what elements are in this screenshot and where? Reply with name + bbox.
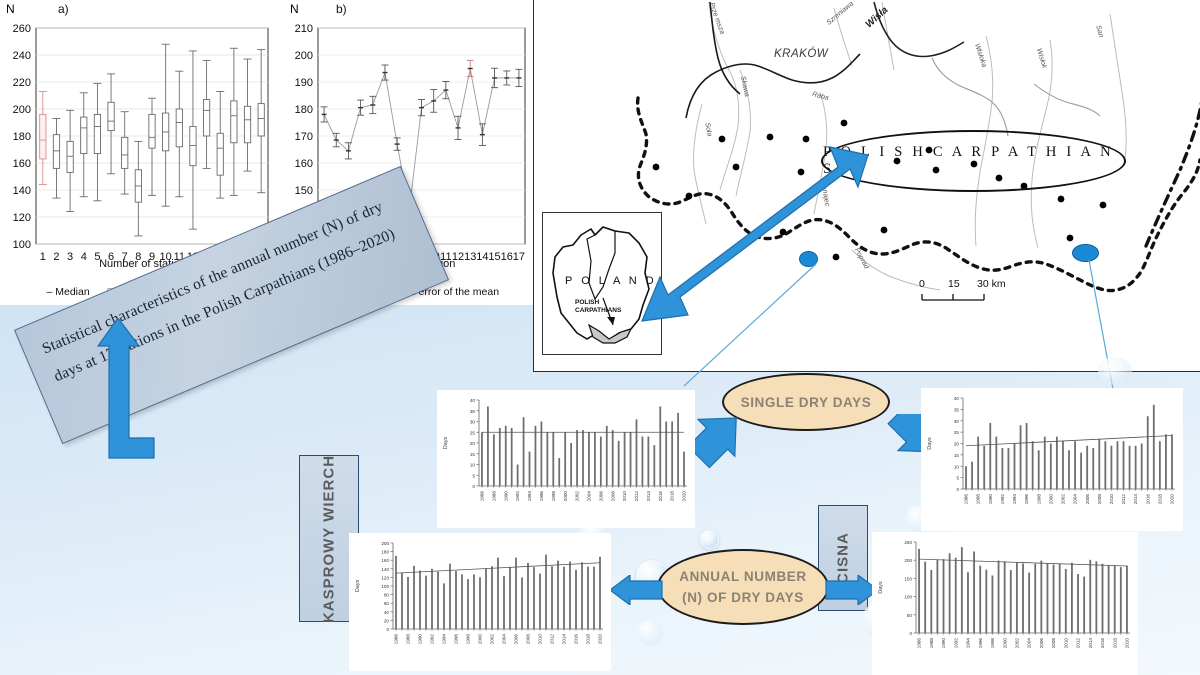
svg-text:2018: 2018: [586, 634, 591, 645]
svg-text:1986: 1986: [480, 491, 485, 502]
svg-text:2000: 2000: [1002, 638, 1007, 649]
svg-text:2016: 2016: [658, 491, 663, 502]
arrow-single-to-kasprowy: [686, 414, 748, 470]
svg-text:2016: 2016: [1145, 494, 1150, 505]
svg-text:140: 140: [13, 185, 31, 197]
svg-text:2012: 2012: [550, 634, 555, 645]
svg-text:200: 200: [381, 541, 389, 546]
svg-text:2014: 2014: [646, 491, 651, 502]
mini-chart-cisna-annual: 0501001502002501986198819901992199419961…: [872, 532, 1138, 675]
svg-text:2018: 2018: [1157, 494, 1162, 505]
svg-text:40: 40: [384, 610, 390, 615]
svg-text:2006: 2006: [514, 634, 519, 645]
topic-annual-dry-days: ANNUAL NUMBER (N) OF DRY DAYS: [657, 549, 829, 625]
svg-text:1998: 1998: [990, 638, 995, 649]
svg-text:2018: 2018: [670, 491, 675, 502]
svg-text:2010: 2010: [1063, 638, 1068, 649]
svg-text:0: 0: [956, 487, 959, 492]
svg-text:100: 100: [13, 239, 31, 251]
svg-text:2004: 2004: [1027, 638, 1032, 649]
mini-chart-kasprowy-single: 0510152025303540198619881990199219941996…: [437, 390, 695, 528]
svg-text:10: 10: [470, 463, 476, 468]
svg-text:220: 220: [13, 77, 31, 89]
svg-text:0: 0: [472, 484, 475, 489]
svg-text:1990: 1990: [988, 494, 993, 505]
scale-15: 15: [948, 278, 960, 290]
svg-text:Days: Days: [355, 579, 361, 592]
scalebar-ticks: [919, 292, 1019, 304]
svg-text:2020: 2020: [598, 634, 603, 645]
svg-text:260: 260: [13, 23, 31, 35]
chart-a-panel-letter: a): [58, 2, 69, 16]
chart-b-panel-letter: b): [336, 2, 347, 16]
svg-text:2004: 2004: [502, 634, 507, 645]
svg-text:140: 140: [381, 567, 389, 572]
mini-chart-cisna-annual-plot: 0501001502002501986198819901992199419961…: [872, 532, 1138, 675]
svg-text:200: 200: [13, 104, 31, 116]
svg-text:1990: 1990: [418, 634, 423, 645]
svg-text:1994: 1994: [442, 634, 447, 645]
topic-annual-label: ANNUAL NUMBER (N) OF DRY DAYS: [679, 566, 807, 608]
mini-chart-kasprowy-annual-plot: 0204060801001201401601802001986198819901…: [349, 533, 611, 671]
svg-text:1996: 1996: [454, 634, 459, 645]
svg-text:2000: 2000: [1048, 494, 1053, 505]
svg-text:15: 15: [470, 452, 476, 457]
svg-text:Days: Days: [443, 436, 449, 449]
svg-text:20: 20: [470, 441, 476, 446]
svg-text:180: 180: [13, 131, 31, 143]
bubble-decoration-2: [700, 530, 719, 549]
svg-text:2000: 2000: [478, 634, 483, 645]
mini-chart-cisna-single-plot: 0510152025303540198619881990199219941996…: [921, 388, 1183, 531]
svg-text:Days: Days: [878, 581, 884, 594]
svg-text:2008: 2008: [610, 491, 615, 502]
svg-text:30: 30: [470, 420, 476, 425]
topic-single-label: SINGLE DRY DAYS: [741, 392, 872, 413]
svg-text:240: 240: [13, 50, 31, 62]
svg-text:150: 150: [295, 185, 313, 197]
svg-text:2000: 2000: [563, 491, 568, 502]
topic-annual-line1: ANNUAL NUMBER: [679, 569, 807, 584]
svg-text:100: 100: [904, 595, 912, 600]
svg-text:180: 180: [381, 550, 389, 555]
svg-text:2002: 2002: [490, 634, 495, 645]
svg-text:120: 120: [381, 575, 389, 580]
svg-text:2016: 2016: [574, 634, 579, 645]
svg-text:170: 170: [295, 131, 313, 143]
svg-text:2006: 2006: [598, 491, 603, 502]
svg-text:200: 200: [904, 558, 912, 563]
svg-text:120: 120: [13, 212, 31, 224]
chart-b-y-axis-symbol: N: [290, 2, 299, 16]
svg-text:0: 0: [386, 627, 389, 632]
svg-text:1992: 1992: [1000, 494, 1005, 505]
svg-text:1988: 1988: [491, 491, 496, 502]
svg-text:1994: 1994: [1012, 494, 1017, 505]
svg-text:2012: 2012: [634, 491, 639, 502]
svg-text:2008: 2008: [1097, 494, 1102, 505]
svg-text:2010: 2010: [622, 491, 627, 502]
bubble-decoration-6: [637, 620, 663, 646]
svg-text:2014: 2014: [1088, 638, 1093, 649]
svg-text:2008: 2008: [526, 634, 531, 645]
svg-text:200: 200: [295, 50, 313, 62]
svg-text:2010: 2010: [1109, 494, 1114, 505]
legend-median: – Median: [47, 286, 90, 298]
svg-text:2006: 2006: [1085, 494, 1090, 505]
arrow-annual-to-kasprowy: [608, 575, 664, 605]
map-city-krakow: KRAKÓW: [774, 48, 828, 60]
svg-text:2016: 2016: [1100, 638, 1105, 649]
mini-chart-kasprowy-single-plot: 0510152025303540198619881990199219941996…: [437, 390, 695, 528]
svg-text:2006: 2006: [1039, 638, 1044, 649]
mini-chart-cisna-single: 0510152025303540198619881990199219941996…: [921, 388, 1183, 531]
kasprowy-connector-line: [680, 260, 820, 390]
svg-text:60: 60: [384, 601, 390, 606]
svg-text:1996: 1996: [1024, 494, 1029, 505]
svg-text:20: 20: [384, 618, 390, 623]
svg-text:2012: 2012: [1121, 494, 1126, 505]
svg-text:2004: 2004: [1073, 494, 1078, 505]
svg-text:1988: 1988: [976, 494, 981, 505]
svg-text:20: 20: [954, 442, 960, 447]
svg-text:1988: 1988: [929, 638, 934, 649]
svg-text:2020: 2020: [1170, 494, 1175, 505]
svg-text:2020: 2020: [1125, 638, 1130, 649]
poland-carpathians-inset-label: POLISHCARPATHIANS: [575, 299, 621, 315]
svg-text:2018: 2018: [1112, 638, 1117, 649]
svg-text:210: 210: [295, 23, 313, 35]
svg-text:2020: 2020: [682, 491, 687, 502]
mini-chart-kasprowy-annual: 0204060801001201401601802001986198819901…: [349, 533, 611, 671]
svg-text:190: 190: [295, 77, 313, 89]
svg-text:1994: 1994: [527, 491, 532, 502]
svg-text:5: 5: [472, 473, 475, 478]
svg-text:25: 25: [470, 430, 476, 435]
svg-text:35: 35: [954, 407, 960, 412]
scale-0: 0: [919, 278, 925, 290]
svg-text:1988: 1988: [406, 634, 411, 645]
svg-text:50: 50: [907, 613, 913, 618]
svg-text:1994: 1994: [966, 638, 971, 649]
svg-text:15: 15: [954, 453, 960, 458]
svg-text:1990: 1990: [503, 491, 508, 502]
svg-text:10: 10: [954, 464, 960, 469]
svg-text:1998: 1998: [1036, 494, 1041, 505]
svg-text:1992: 1992: [953, 638, 958, 649]
svg-text:35: 35: [470, 409, 476, 414]
svg-text:2002: 2002: [1061, 494, 1066, 505]
svg-text:250: 250: [904, 540, 912, 545]
svg-text:100: 100: [381, 584, 389, 589]
svg-text:Days: Days: [927, 437, 933, 450]
chart-a-y-axis-symbol: N: [6, 2, 15, 16]
svg-text:2014: 2014: [1133, 494, 1138, 505]
scale-30km: 30 km: [977, 278, 1006, 290]
station-label-kasprowy: KASPROWY WIERCH: [321, 454, 338, 622]
svg-text:1986: 1986: [917, 638, 922, 649]
svg-text:160: 160: [295, 158, 313, 170]
svg-text:2008: 2008: [1051, 638, 1056, 649]
bubble-decoration-7: [1098, 357, 1132, 385]
map-scalebar: 0 15 30 km: [919, 278, 1019, 304]
ribbon-to-chart-arrow: [92, 318, 172, 478]
svg-text:1992: 1992: [515, 491, 520, 502]
svg-text:160: 160: [381, 558, 389, 563]
svg-text:40: 40: [954, 396, 960, 401]
svg-text:0: 0: [909, 631, 912, 636]
svg-text:2004: 2004: [587, 491, 592, 502]
svg-text:1998: 1998: [466, 634, 471, 645]
svg-text:180: 180: [295, 104, 313, 116]
svg-text:2014: 2014: [562, 634, 567, 645]
svg-text:1998: 1998: [551, 491, 556, 502]
svg-text:25: 25: [954, 430, 960, 435]
svg-text:2012: 2012: [1076, 638, 1081, 649]
svg-text:2010: 2010: [538, 634, 543, 645]
svg-text:160: 160: [13, 158, 31, 170]
svg-text:1996: 1996: [539, 491, 544, 502]
svg-text:2002: 2002: [575, 491, 580, 502]
svg-text:40: 40: [470, 398, 476, 403]
svg-text:1990: 1990: [941, 638, 946, 649]
svg-text:80: 80: [384, 593, 390, 598]
svg-text:1986: 1986: [394, 634, 399, 645]
svg-text:1992: 1992: [430, 634, 435, 645]
svg-text:1996: 1996: [978, 638, 983, 649]
svg-text:150: 150: [904, 576, 912, 581]
svg-text:1986: 1986: [964, 494, 969, 505]
svg-text:2002: 2002: [1014, 638, 1019, 649]
svg-text:30: 30: [954, 419, 960, 424]
svg-text:5: 5: [956, 476, 959, 481]
topic-annual-line2: (N) OF DRY DAYS: [682, 590, 804, 605]
